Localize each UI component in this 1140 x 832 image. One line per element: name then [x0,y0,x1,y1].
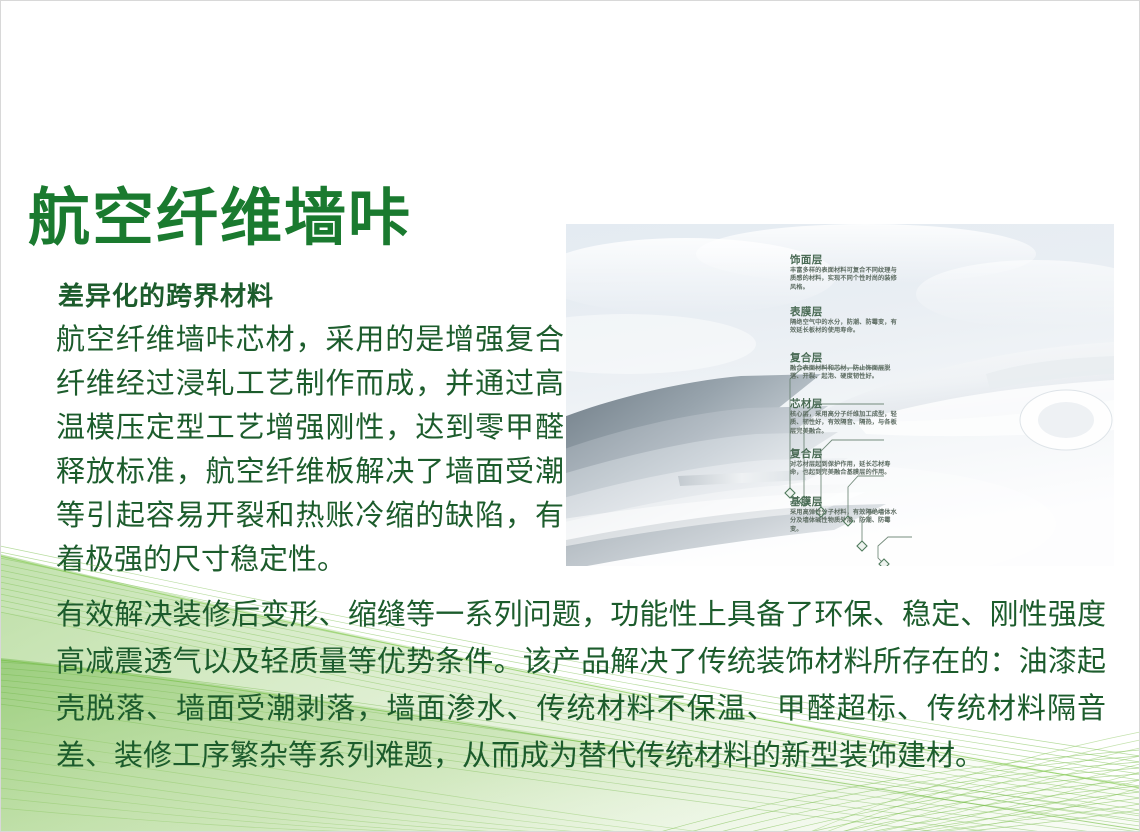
callout-3: 芯材层 核心层，采用高分子纤维加工成型，轻质、韧性好，有效隔音、隔热，与各板层完… [790,398,902,436]
callout-0: 饰面层 丰富多样的表面材料可复合不同纹理与质感的材料，实现不同个性时尚的装修风格… [790,254,902,292]
callout-title: 饰面层 [790,254,902,266]
callout-title: 表膜层 [790,306,902,318]
callout-title: 芯材层 [790,398,902,410]
callout-2: 复合层 融合表面材料和芯材，防止饰面层脱落、开裂、起泡、硬度韧性好。 [790,352,902,382]
product-layer-diagram: 饰面层 丰富多样的表面材料可复合不同纹理与质感的材料，实现不同个性时尚的装修风格… [566,224,1114,566]
callout-desc: 丰富多样的表面材料可复合不同纹理与质感的材料，实现不同个性时尚的装修风格。 [790,267,902,292]
callout-desc: 隔绝空气中的水分，防潮、防霉变，有效延长板材的使用寿命。 [790,319,902,336]
callout-1: 表膜层 隔绝空气中的水分，防潮、防霉变，有效延长板材的使用寿命。 [790,306,902,336]
poster-canvas: 航空纤维墙咔 差异化的跨界材料 航空纤维墙咔芯材，采用的是增强复合纤维经过浸轧工… [0,0,1140,832]
callout-desc: 对芯材层起到保护作用，延长芯材寿命，也起到完美融合基膜层的作用。 [790,461,902,478]
features-paragraph: 有效解决装修后变形、缩缝等一系列问题，功能性上具备了环保、稳定、刚性强度高减震透… [56,592,1106,780]
callout-5: 基膜层 采用高弹性分子材料，有效隔绝墙体水分及墙体碱性物质外渗，防潮、防霉变。 [790,496,902,534]
callout-desc: 采用高弹性分子材料，有效隔绝墙体水分及墙体碱性物质外渗，防潮、防霉变。 [790,509,902,534]
intro-paragraph: 航空纤维墙咔芯材，采用的是增强复合纤维经过浸轧工艺制作而成，并通过高温模压定型工… [56,318,564,582]
page-title: 航空纤维墙咔 [28,186,412,252]
callout-title: 基膜层 [790,496,902,508]
callout-title: 复合层 [790,352,902,364]
callout-title: 复合层 [790,448,902,460]
callout-desc: 核心层，采用高分子纤维加工成型，轻质、韧性好，有效隔音、隔热，与各板层完美融合。 [790,411,902,436]
page-subtitle: 差异化的跨界材料 [58,276,274,313]
callout-desc: 融合表面材料和芯材，防止饰面层脱落、开裂、起泡、硬度韧性好。 [790,365,902,382]
callout-4: 复合层 对芯材层起到保护作用，延长芯材寿命，也起到完美融合基膜层的作用。 [790,448,902,478]
